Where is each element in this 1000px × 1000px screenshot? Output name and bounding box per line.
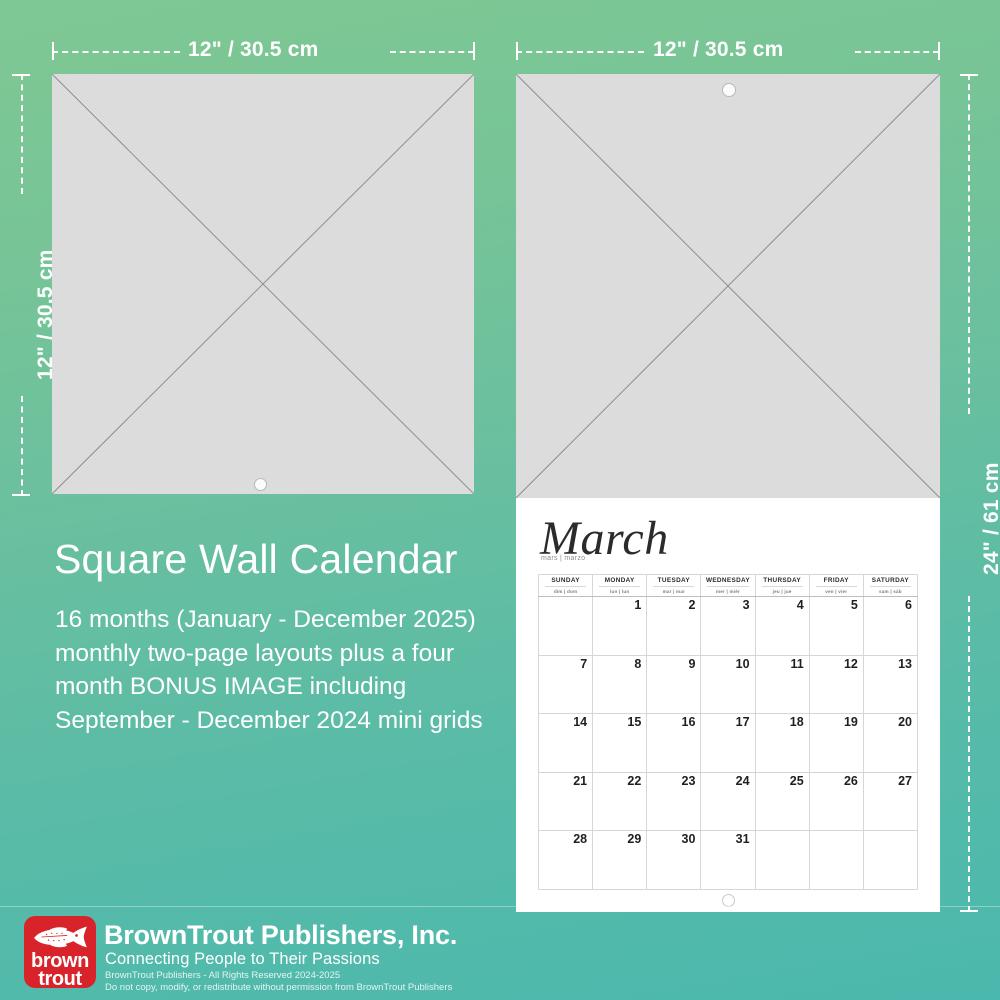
calendar-day-cell: 2 — [647, 597, 701, 656]
day-number — [864, 831, 917, 833]
calendar-day-cell — [539, 597, 593, 656]
day-header-thursday: THURSDAY jeu | jue — [755, 575, 809, 597]
calendar-day-cell — [809, 831, 863, 890]
day-number: 13 — [864, 656, 917, 671]
hanging-hole — [254, 478, 267, 491]
calendar-week-row: 7 8 9 10 11 12 13 — [539, 655, 918, 714]
day-number: 25 — [756, 773, 809, 788]
calendar-day-cell: 18 — [755, 714, 809, 773]
legal-line-2: Do not copy, modify, or redistribute wit… — [105, 982, 452, 994]
day-header-saturday: SATURDAY sam | sáb — [863, 575, 917, 597]
calendar-day-cell: 7 — [539, 655, 593, 714]
day-header-label-loc: ven | vier — [816, 586, 857, 595]
day-number: 11 — [756, 656, 809, 671]
guide-dash-bottom — [968, 596, 970, 912]
day-header-monday: MONDAY lun | lun — [593, 575, 647, 597]
day-header-label-en: TUESDAY — [647, 577, 700, 585]
calendar-week-row: 21 22 23 24 25 26 27 — [539, 772, 918, 831]
calendar-week-row: 28 29 30 31 — [539, 831, 918, 890]
day-number — [539, 597, 592, 599]
legal-notice: BrownTrout Publishers - All Rights Reser… — [105, 970, 452, 993]
calendar-week-row: 1 2 3 4 5 6 — [539, 597, 918, 656]
calendar-day-cell: 12 — [809, 655, 863, 714]
day-header-label-en: WEDNESDAY — [701, 577, 754, 585]
day-number: 29 — [593, 831, 646, 846]
calendar-day-cell: 16 — [647, 714, 701, 773]
calendar-day-cell: 20 — [863, 714, 917, 773]
dimension-label-right-vertical: 24" / 61 cm — [980, 462, 1000, 575]
logo-text-trout: trout — [24, 970, 96, 989]
calendar-day-cell: 25 — [755, 772, 809, 831]
calendar-day-cell: 23 — [647, 772, 701, 831]
guide-dash-right — [390, 51, 474, 53]
guide-cap-right — [938, 42, 940, 60]
day-number: 23 — [647, 773, 700, 788]
day-number: 2 — [647, 597, 700, 612]
day-header-label-loc: lun | lun — [599, 586, 640, 595]
placeholder-cross-icon — [516, 74, 940, 498]
calendar-grid-sheet: March mars | marzo SUNDAY dim | dom MOND… — [516, 498, 940, 912]
day-number: 27 — [864, 773, 917, 788]
calendar-day-cell: 4 — [755, 597, 809, 656]
day-header-label-loc: jeu | jue — [762, 586, 803, 595]
dimension-label-top-left: 12" / 30.5 cm — [188, 38, 318, 62]
calendar-day-cell: 30 — [647, 831, 701, 890]
day-number: 22 — [593, 773, 646, 788]
day-header-label-en: THURSDAY — [756, 577, 809, 585]
guide-dash-right — [855, 51, 939, 53]
calendar-week-row: 14 15 16 17 18 19 20 — [539, 714, 918, 773]
day-header-friday: FRIDAY ven | vier — [809, 575, 863, 597]
day-header-sunday: SUNDAY dim | dom — [539, 575, 593, 597]
day-number: 18 — [756, 714, 809, 729]
day-number: 6 — [864, 597, 917, 612]
day-number: 8 — [593, 656, 646, 671]
calendar-day-cell: 5 — [809, 597, 863, 656]
placeholder-cross-icon — [52, 74, 474, 494]
day-header-label-loc: sam | sáb — [870, 586, 911, 595]
calendar-day-cell: 27 — [863, 772, 917, 831]
calendar-day-cell: 31 — [701, 831, 755, 890]
calendar-day-cell: 24 — [701, 772, 755, 831]
day-number: 7 — [539, 656, 592, 671]
day-number: 14 — [539, 714, 592, 729]
day-number: 15 — [593, 714, 646, 729]
calendar-day-cell — [755, 831, 809, 890]
day-number: 19 — [810, 714, 863, 729]
day-number: 4 — [756, 597, 809, 612]
brand-tagline: Connecting People to Their Passions — [105, 950, 380, 969]
guide-dash-top — [968, 74, 970, 414]
day-header-label-en: MONDAY — [593, 577, 646, 585]
day-number: 9 — [647, 656, 700, 671]
day-number: 28 — [539, 831, 592, 846]
calendar-day-cell: 9 — [647, 655, 701, 714]
day-number: 17 — [701, 714, 754, 729]
day-header-label-loc: dim | dom — [545, 586, 586, 595]
day-number: 20 — [864, 714, 917, 729]
day-header-label-en: FRIDAY — [810, 577, 863, 585]
day-number: 3 — [701, 597, 754, 612]
day-header-wednesday: WEDNESDAY mer | miér — [701, 575, 755, 597]
calendar-day-cell: 13 — [863, 655, 917, 714]
calendar-table: SUNDAY dim | dom MONDAY lun | lun TUESDA… — [538, 574, 918, 890]
product-description: 16 months (January - December 2025) mont… — [55, 603, 525, 737]
calendar-day-cell — [863, 831, 917, 890]
calendar-day-cell: 15 — [593, 714, 647, 773]
legal-line-1: BrownTrout Publishers - All Rights Reser… — [105, 970, 452, 982]
calendar-header-row: SUNDAY dim | dom MONDAY lun | lun TUESDA… — [539, 575, 918, 597]
day-number: 31 — [701, 831, 754, 846]
calendar-day-cell: 17 — [701, 714, 755, 773]
calendar-day-cell: 26 — [809, 772, 863, 831]
day-number: 21 — [539, 773, 592, 788]
calendar-day-cell: 28 — [539, 831, 593, 890]
calendar-day-cell: 10 — [701, 655, 755, 714]
calendar-day-cell: 14 — [539, 714, 593, 773]
day-header-label-en: SATURDAY — [864, 577, 917, 585]
day-number: 12 — [810, 656, 863, 671]
calendar-day-cell: 22 — [593, 772, 647, 831]
day-number — [756, 831, 809, 833]
guide-cap-bottom — [960, 910, 978, 912]
product-image-panel-left — [52, 74, 474, 494]
footer-divider — [0, 906, 1000, 907]
guide-dash-top — [21, 74, 23, 194]
guide-dash-bottom — [21, 396, 23, 496]
calendar-day-cell: 29 — [593, 831, 647, 890]
guide-dash-left — [52, 51, 180, 53]
day-header-label-loc: mar | mar — [653, 586, 694, 595]
calendar-day-cell: 1 — [593, 597, 647, 656]
calendar-day-cell: 19 — [809, 714, 863, 773]
day-number: 16 — [647, 714, 700, 729]
day-number: 26 — [810, 773, 863, 788]
day-number: 30 — [647, 831, 700, 846]
browntrout-logo: brown trout — [24, 916, 96, 988]
day-number: 24 — [701, 773, 754, 788]
day-header-label-en: SUNDAY — [539, 577, 592, 585]
hanging-hole — [722, 83, 736, 97]
guide-cap-bottom — [12, 494, 30, 496]
day-header-tuesday: TUESDAY mar | mar — [647, 575, 701, 597]
product-image-panel-right — [516, 74, 940, 498]
page-title: Square Wall Calendar — [54, 536, 458, 583]
day-header-label-loc: mer | miér — [707, 586, 748, 595]
calendar-day-cell: 3 — [701, 597, 755, 656]
guide-dash-left — [516, 51, 644, 53]
day-number — [810, 831, 863, 833]
calendar-day-cell: 6 — [863, 597, 917, 656]
product-spec-page: 12" / 30.5 cm 12" / 30.5 cm 12" / 30.5 c… — [0, 0, 1000, 1000]
day-number: 1 — [593, 597, 646, 612]
calendar-day-cell: 21 — [539, 772, 593, 831]
calendar-day-cell: 11 — [755, 655, 809, 714]
day-number: 5 — [810, 597, 863, 612]
trout-fish-icon — [29, 922, 91, 952]
dimension-label-top-right: 12" / 30.5 cm — [653, 38, 783, 62]
calendar-day-cell: 8 — [593, 655, 647, 714]
calendar-month-localized: mars | marzo — [541, 555, 585, 562]
guide-cap-right — [473, 42, 475, 60]
brand-name: BrownTrout Publishers, Inc. — [104, 920, 457, 951]
day-number: 10 — [701, 656, 754, 671]
